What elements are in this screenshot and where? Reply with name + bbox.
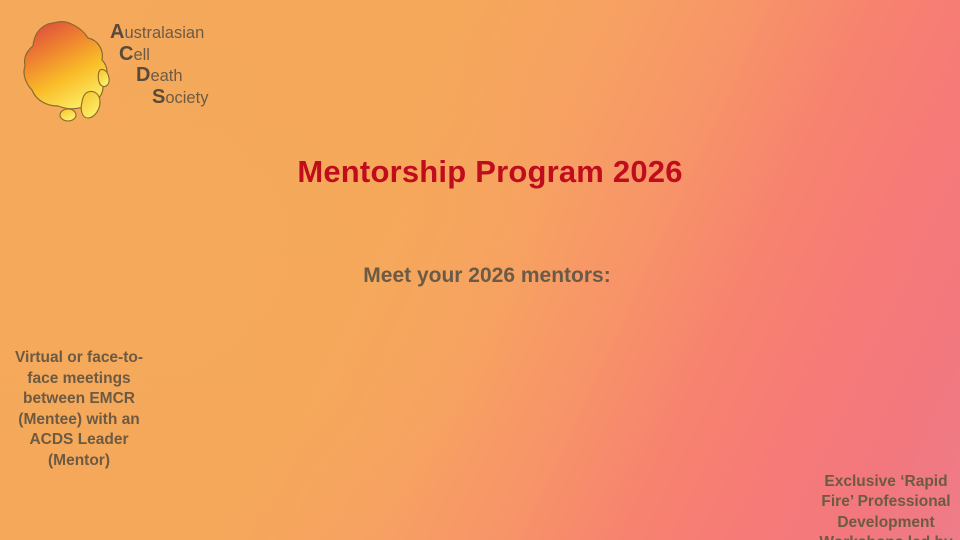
logo-cap-d: D (136, 64, 150, 86)
logo-cap-a: A (110, 21, 124, 43)
logo-line-society: Society (152, 87, 208, 109)
left-caption: Virtual or face-to-face meetings between… (6, 348, 152, 472)
page-title: Mentorship Program 2026 (0, 154, 960, 190)
logo-cap-c: C (119, 43, 133, 65)
logo-line-death: Death (136, 65, 208, 87)
right-caption: Exclusive ‘Rapid Fire’ Professional Deve… (816, 472, 956, 540)
poster-canvas: Australasian Cell Death Society Mentorsh… (0, 0, 960, 540)
logo-rest-australasian: ustralasian (124, 24, 204, 42)
logo-rest-society: ociety (165, 89, 208, 107)
logo-cap-s: S (152, 86, 165, 108)
acds-logo-text: Australasian Cell Death Society (110, 22, 208, 108)
logo-line-cell: Cell (119, 44, 208, 66)
mentors-subheading: Meet your 2026 mentors: (0, 264, 960, 288)
acds-logo: Australasian Cell Death Society (14, 8, 240, 128)
logo-line-australasian: Australasian (110, 22, 208, 44)
logo-rest-cell: ell (133, 46, 150, 64)
logo-rest-death: eath (150, 67, 182, 85)
